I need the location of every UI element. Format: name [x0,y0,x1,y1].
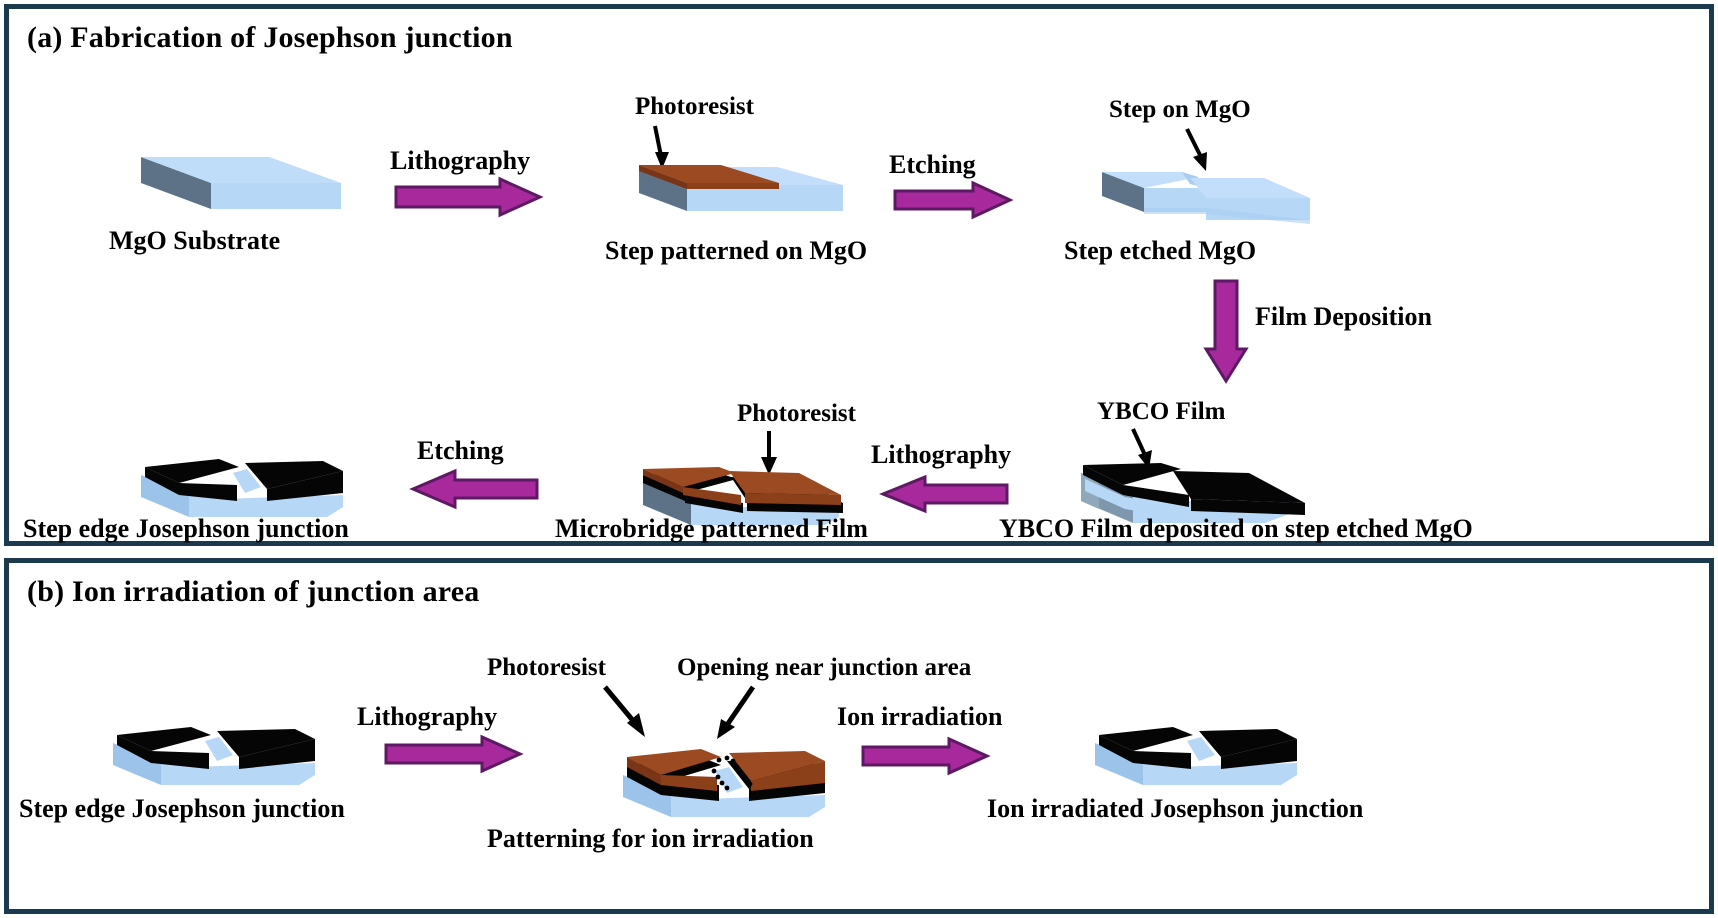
caption-ybco-film-deposited: YBCO Film deposited on step etched MgO [999,515,1473,542]
diagram-step-edge-josephson-junction-b [99,705,329,795]
panel-a-fabrication: (a) Fabrication of Josephson junction Mg… [4,4,1714,546]
diagram-ion-irradiated-josephson-junction [1081,705,1311,795]
right-arrow-icon [861,737,991,775]
figure-root: (a) Fabrication of Josephson junction Mg… [0,0,1718,918]
callout-ybco-film: YBCO Film [1097,399,1225,425]
right-arrow-icon [893,181,1013,219]
process-label-lithography-2: Lithography [871,441,1011,468]
callout-photoresist-2: Photoresist [737,401,856,427]
right-arrow-icon [384,735,524,773]
caption-step-edge-josephson-junction-b: Step edge Josephson junction [19,795,345,822]
process-label-etching-2: Etching [417,437,504,464]
caption-mgo-substrate: MgO Substrate [109,227,280,254]
caption-step-etched-mgo: Step etched MgO [1064,237,1256,264]
caption-step-patterned-on-mgo: Step patterned on MgO [605,237,867,264]
process-label-lithography-3: Lithography [357,703,497,730]
callout-photoresist-3: Photoresist [487,655,606,681]
caption-step-edge-josephson-junction-a: Step edge Josephson junction [23,515,349,542]
diagram-mgo-substrate [129,139,359,219]
mgo-substrate-svg [129,139,359,219]
diagram-patterning-for-ion-irradiation [609,731,839,827]
left-arrow-icon [879,475,1009,513]
process-label-etching-1: Etching [889,151,976,178]
diagram-step-patterned-on-mgo [629,149,859,234]
callout-photoresist-1: Photoresist [635,94,754,120]
caption-ion-irradiated-josephson-junction: Ion irradiated Josephson junction [987,795,1363,822]
caption-microbridge-patterned-film: Microbridge patterned Film [555,515,868,542]
down-arrow-icon [1204,279,1248,384]
process-label-film-deposition: Film Deposition [1255,303,1432,330]
caption-patterning-for-ion-irradiation: Patterning for ion irradiation [487,825,814,852]
callout-step-on-mgo: Step on MgO [1109,97,1251,123]
process-label-lithography-1: Lithography [390,147,530,174]
panel-b-title: (b) Ion irradiation of junction area [27,575,479,609]
callout-opening-near-junction-area: Opening near junction area [677,655,971,681]
left-arrow-icon [409,469,539,509]
diagram-step-etched-mgo [1094,164,1324,244]
right-arrow-icon [394,177,544,217]
panel-a-title: (a) Fabrication of Josephson junction [27,21,513,55]
panel-b-ion-irradiation: (b) Ion irradiation of junction area Ste… [4,558,1714,914]
process-label-ion-irradiation: Ion irradiation [837,703,1002,730]
